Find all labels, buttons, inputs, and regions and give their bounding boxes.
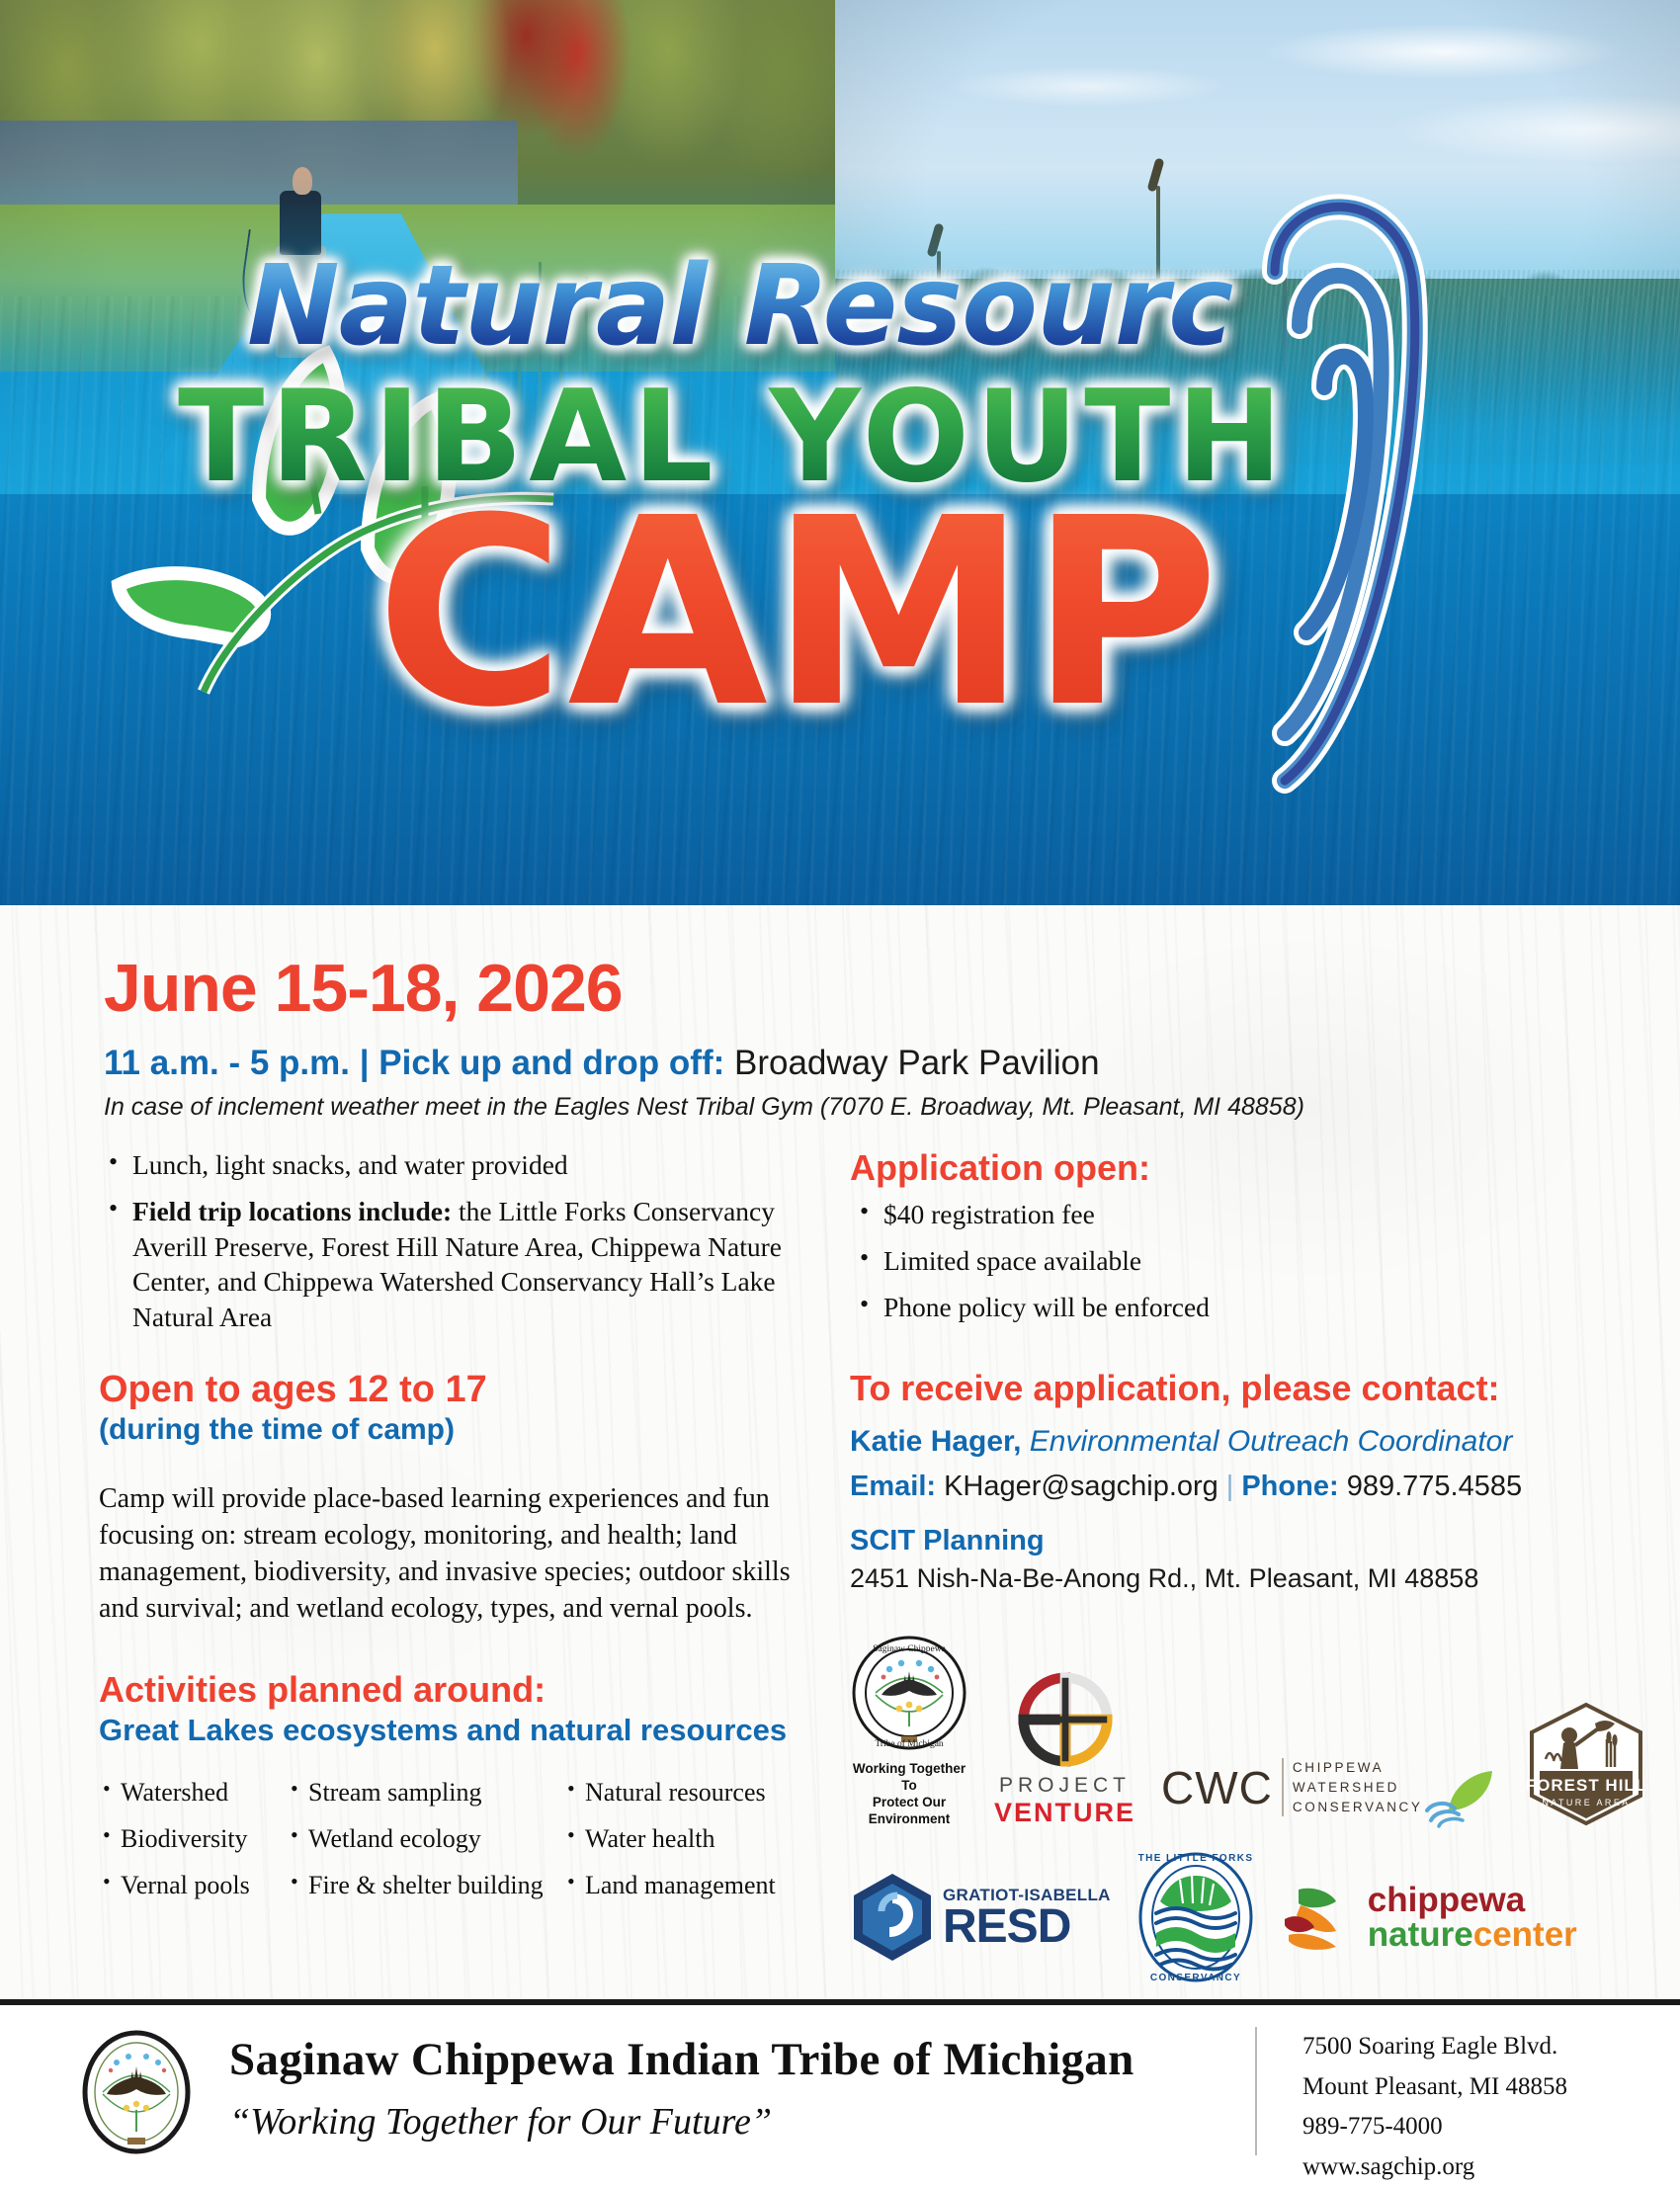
activities-heading: Activities planned around: bbox=[99, 1669, 830, 1711]
footer-address-block: 7500 Soaring Eagle Blvd. Mount Pleasant,… bbox=[1302, 2027, 1567, 2187]
camp-info-bullet-list: Lunch, light snacks, and water provided … bbox=[99, 1147, 830, 1335]
list-item: Stream sampling bbox=[287, 1778, 563, 1808]
list-item: Field trip locations include: the Little… bbox=[99, 1194, 830, 1335]
cnc-line2: naturecenter bbox=[1368, 1917, 1577, 1952]
cwc-monogram: CWC bbox=[1161, 1761, 1273, 1814]
cwc-wordmark: CHIPPEWA WATERSHED CONSERVANCY bbox=[1282, 1758, 1423, 1816]
footer-address-line1: 7500 Soaring Eagle Blvd. bbox=[1302, 2027, 1567, 2067]
cnc-line2a: nature bbox=[1368, 1915, 1473, 1954]
contact-heading: To receive application, please contact: bbox=[850, 1368, 1581, 1409]
tribal-seal-caption: Working Together To Protect Our Environm… bbox=[850, 1761, 968, 1828]
partner-logos-row-1: Saginaw Chippewa Tribe of Michigan Worki… bbox=[850, 1634, 1581, 1828]
resd-wordmark: GRATIOT-ISABELLA RESD bbox=[943, 1886, 1111, 1949]
event-time-and-pickup: 11 a.m. - 5 p.m. | Pick up and drop off:… bbox=[104, 1044, 1100, 1083]
application-open-heading: Application open: bbox=[850, 1147, 1581, 1189]
cnc-line2b: center bbox=[1473, 1915, 1577, 1954]
leaf-ripple-icon bbox=[1419, 1765, 1496, 1828]
forest-hill-nature-area-logo: FOREST HILL NATURE AREA bbox=[1522, 1700, 1650, 1828]
phone-value[interactable]: 989.775.4585 bbox=[1347, 1471, 1522, 1502]
project-venture-line2: VENTURE bbox=[994, 1798, 1135, 1828]
list-item: Lunch, light snacks, and water provided bbox=[99, 1147, 830, 1183]
cwc-line1: CHIPPEWA bbox=[1293, 1758, 1423, 1778]
chippewa-watershed-conservancy-logo: CWC CHIPPEWA WATERSHED CONSERVANCY bbox=[1161, 1747, 1495, 1828]
gratiot-isabella-resd-logo: GRATIOT-ISABELLA RESD bbox=[850, 1872, 1111, 1963]
list-item: Wetland ecology bbox=[287, 1824, 563, 1854]
list-item: Limited space available bbox=[850, 1243, 1581, 1279]
footer-vertical-divider bbox=[1255, 2027, 1257, 2155]
event-dates: June 15-18, 2026 bbox=[104, 950, 623, 1027]
footer-address-line2: Mount Pleasant, MI 48858 bbox=[1302, 2067, 1567, 2108]
bullet-lead-in: Field trip locations include: bbox=[132, 1196, 452, 1226]
chippewa-nature-center-logo: chippewa naturecenter bbox=[1281, 1880, 1577, 1955]
activities-subheading: Great Lakes ecosystems and natural resou… bbox=[99, 1713, 830, 1748]
svg-text:Saginaw Chippewa: Saginaw Chippewa bbox=[873, 1644, 946, 1654]
right-content-column: Application open: $40 registration fee L… bbox=[850, 1147, 1581, 2035]
email-label: Email: bbox=[850, 1471, 936, 1502]
hero-banner: Natural Resources TRIBAL YOUTH CAMP bbox=[0, 0, 1680, 905]
contact-person-name: Katie Hager, bbox=[850, 1425, 1021, 1458]
bullet-text: Lunch, light snacks, and water provided bbox=[132, 1149, 568, 1180]
department-name: SCIT Planning bbox=[850, 1525, 1581, 1557]
contact-person-title: Environmental Outreach Coordinator bbox=[1030, 1425, 1513, 1458]
list-item: Vernal pools bbox=[99, 1871, 287, 1900]
resd-line2: RESD bbox=[943, 1905, 1111, 1949]
nature-center-leaf-bird-icon bbox=[1281, 1880, 1362, 1955]
forest-hill-text1: FOREST HILL bbox=[1525, 1776, 1645, 1795]
application-bullet-list: $40 registration fee Limited space avail… bbox=[850, 1197, 1581, 1324]
activities-column-2: Stream sampling Wetland ecology Fire & s… bbox=[287, 1778, 563, 1917]
list-item: Water health bbox=[563, 1824, 820, 1854]
cnc-line1: chippewa bbox=[1368, 1883, 1577, 1917]
list-item: Phone policy will be enforced bbox=[850, 1290, 1581, 1325]
camp-description: Camp will provide place-based learning e… bbox=[99, 1480, 830, 1628]
email-value[interactable]: KHager@sagchip.org bbox=[944, 1471, 1218, 1502]
list-item: $40 registration fee bbox=[850, 1197, 1581, 1232]
ages-heading: Open to ages 12 to 17 bbox=[99, 1369, 830, 1411]
field-separator: | bbox=[1218, 1471, 1242, 1502]
activities-grid: Watershed Biodiversity Vernal pools Stre… bbox=[99, 1778, 830, 1917]
project-venture-line1: PROJECT bbox=[994, 1774, 1135, 1798]
project-venture-logo: PROJECT VENTURE bbox=[994, 1672, 1135, 1828]
medicine-wheel-icon bbox=[1018, 1672, 1113, 1767]
contact-email-phone: Email: KHager@sagchip.org|Phone: 989.775… bbox=[850, 1471, 1581, 1503]
footer-phone[interactable]: 989-775-4000 bbox=[1302, 2107, 1567, 2147]
activities-column-1: Watershed Biodiversity Vernal pools bbox=[99, 1778, 287, 1917]
contact-person: Katie Hager, Environmental Outreach Coor… bbox=[850, 1425, 1581, 1459]
little-forks-seal-icon: THE LITTLE FORKS CONSERVANCY bbox=[1133, 1850, 1259, 1984]
forest-hill-text2: NATURE AREA bbox=[1542, 1798, 1630, 1808]
ages-subtext: (during the time of camp) bbox=[99, 1413, 830, 1447]
cwc-line2: WATERSHED bbox=[1293, 1778, 1423, 1798]
little-forks-conservancy-logo: THE LITTLE FORKS CONSERVANCY bbox=[1133, 1850, 1259, 1984]
flyer-body: June 15-18, 2026 11 a.m. - 5 p.m. | Pick… bbox=[0, 905, 1680, 2174]
tribal-seal-icon: Saginaw Chippewa Tribe of Michigan bbox=[850, 1634, 968, 1752]
left-content-column: Lunch, light snacks, and water provided … bbox=[99, 1147, 830, 1917]
seal-caption-line1: Working Together To bbox=[853, 1761, 966, 1793]
phone-label: Phone: bbox=[1241, 1471, 1338, 1502]
cwc-line3: CONSERVANCY bbox=[1293, 1798, 1423, 1817]
resd-hex-icon bbox=[850, 1872, 935, 1963]
nature-center-wordmark: chippewa naturecenter bbox=[1368, 1883, 1577, 1952]
seal-caption-line2: Protect Our Environment bbox=[869, 1795, 951, 1826]
svg-text:Tribe of Michigan: Tribe of Michigan bbox=[875, 1738, 944, 1749]
pickup-location: Broadway Park Pavilion bbox=[734, 1044, 1100, 1082]
little-forks-bottom-text: CONSERVANCY bbox=[1150, 1973, 1241, 1983]
event-time: 11 a.m. - 5 p.m. bbox=[104, 1044, 350, 1082]
footer-tribal-seal-icon bbox=[77, 2029, 196, 2155]
footer-tribe-name: Saginaw Chippewa Indian Tribe of Michiga… bbox=[229, 2033, 1134, 2086]
little-forks-top-text: THE LITTLE FORKS bbox=[1137, 1853, 1253, 1864]
pickup-label: Pick up and drop off: bbox=[378, 1044, 724, 1082]
footer-motto: “Working Together for Our Future” bbox=[229, 2100, 772, 2144]
list-item: Land management bbox=[563, 1871, 820, 1900]
partner-logos-row-2: GRATIOT-ISABELLA RESD bbox=[850, 1850, 1581, 1984]
hero-title-line1: Natural Resources bbox=[247, 242, 1235, 371]
list-item: Watershed bbox=[99, 1778, 287, 1808]
pipe-separator: | bbox=[360, 1044, 370, 1082]
footer: Saginaw Chippewa Indian Tribe of Michiga… bbox=[0, 2005, 1680, 2174]
inclement-weather-note: In case of inclement weather meet in the… bbox=[104, 1093, 1304, 1122]
hero-title-line3: CAMP bbox=[376, 489, 1561, 738]
list-item: Natural resources bbox=[563, 1778, 820, 1808]
footer-website[interactable]: www.sagchip.org bbox=[1302, 2147, 1567, 2187]
department-address: 2451 Nish-Na-Be-Anong Rd., Mt. Pleasant,… bbox=[850, 1563, 1581, 1594]
forest-hill-badge-icon: FOREST HILL NATURE AREA bbox=[1522, 1700, 1650, 1828]
list-item: Fire & shelter building bbox=[287, 1871, 563, 1900]
tribal-seal-logo: Saginaw Chippewa Tribe of Michigan Worki… bbox=[850, 1634, 968, 1828]
activities-column-3: Natural resources Water health Land mana… bbox=[563, 1778, 820, 1917]
list-item: Biodiversity bbox=[99, 1824, 287, 1854]
